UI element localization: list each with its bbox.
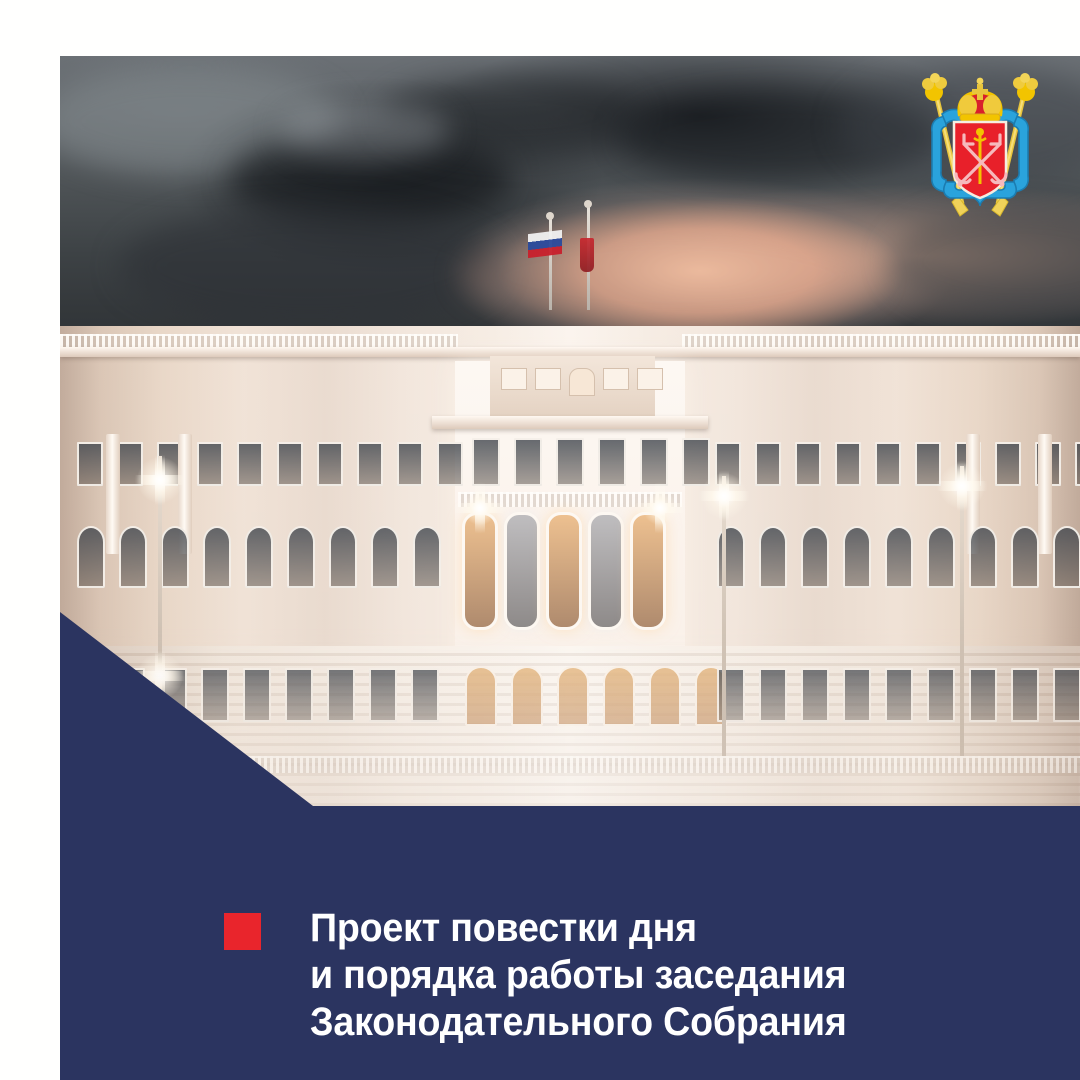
window	[317, 442, 343, 486]
relief-panel	[535, 368, 561, 390]
window	[119, 526, 147, 588]
flagpole-finial	[584, 200, 592, 208]
attic-relief-row	[497, 368, 667, 396]
window	[357, 442, 383, 486]
reflection-balustrade	[708, 816, 1080, 829]
lamp-glow	[137, 457, 183, 503]
relief-panel	[501, 368, 527, 390]
reflection-relief-panel	[558, 846, 598, 884]
window	[1075, 442, 1080, 486]
window	[556, 438, 584, 486]
cloud	[280, 101, 450, 161]
window	[875, 442, 901, 486]
russian-tricolor-flag	[528, 230, 562, 258]
reflection-relief-panel	[512, 846, 552, 884]
caption-line-3: Законодательного Собрания	[310, 999, 949, 1046]
window	[413, 526, 441, 588]
flagpole-finial	[546, 212, 554, 220]
reflection-relief-panel	[650, 846, 690, 884]
window	[77, 526, 105, 588]
window	[885, 526, 913, 588]
window	[795, 442, 821, 486]
lamp-glow	[701, 473, 747, 519]
caption-block: Проект повестки дня и порядка работы зас…	[310, 905, 990, 1046]
saint-petersburg-coat-of-arms	[916, 70, 1044, 222]
window	[371, 526, 399, 588]
reflection-relief-panel	[604, 846, 644, 884]
window	[197, 442, 223, 486]
window	[835, 442, 861, 486]
window-row-upper-center	[465, 438, 717, 486]
arched-window	[588, 512, 624, 630]
window-row-mid-right	[710, 526, 1080, 588]
lamp-glow	[643, 491, 677, 525]
window	[329, 526, 357, 588]
window	[277, 442, 303, 486]
window-row-upper-right	[708, 442, 1080, 486]
window	[437, 442, 463, 486]
cornice	[432, 416, 708, 429]
window	[969, 526, 997, 588]
window-row-mid-left	[70, 526, 448, 588]
arched-window	[504, 512, 540, 630]
relief-panel	[637, 368, 663, 390]
window	[843, 526, 871, 588]
window	[1011, 526, 1039, 588]
red-flag	[580, 238, 594, 272]
window	[161, 526, 189, 588]
window	[287, 526, 315, 588]
window	[397, 442, 423, 486]
window	[1053, 526, 1080, 588]
window	[77, 442, 103, 486]
reflection-relief-panel	[466, 846, 506, 884]
window	[237, 442, 263, 486]
window	[203, 526, 231, 588]
red-square-marker	[224, 913, 261, 950]
lamp-glow	[463, 491, 497, 525]
window	[245, 526, 273, 588]
window	[514, 438, 542, 486]
reflection-balustrade	[60, 816, 432, 829]
relief-panel	[603, 368, 629, 390]
window	[598, 438, 626, 486]
window	[801, 526, 829, 588]
cloud	[460, 221, 880, 331]
facade-reflection	[60, 626, 1080, 806]
lamp-glow	[939, 463, 985, 509]
window	[759, 526, 787, 588]
window	[995, 442, 1021, 486]
relief-medallion	[569, 368, 595, 396]
poster-canvas: Проект повестки дня и порядка работы зас…	[0, 0, 1080, 1080]
window	[927, 526, 955, 588]
caption-line-1: Проект повестки дня	[310, 905, 949, 952]
caption-line-2: и порядка работы заседания	[310, 952, 949, 999]
reflection-cornice	[432, 806, 708, 817]
arched-window	[546, 512, 582, 630]
imperial-crown	[959, 78, 1001, 121]
cloud	[120, 206, 500, 326]
